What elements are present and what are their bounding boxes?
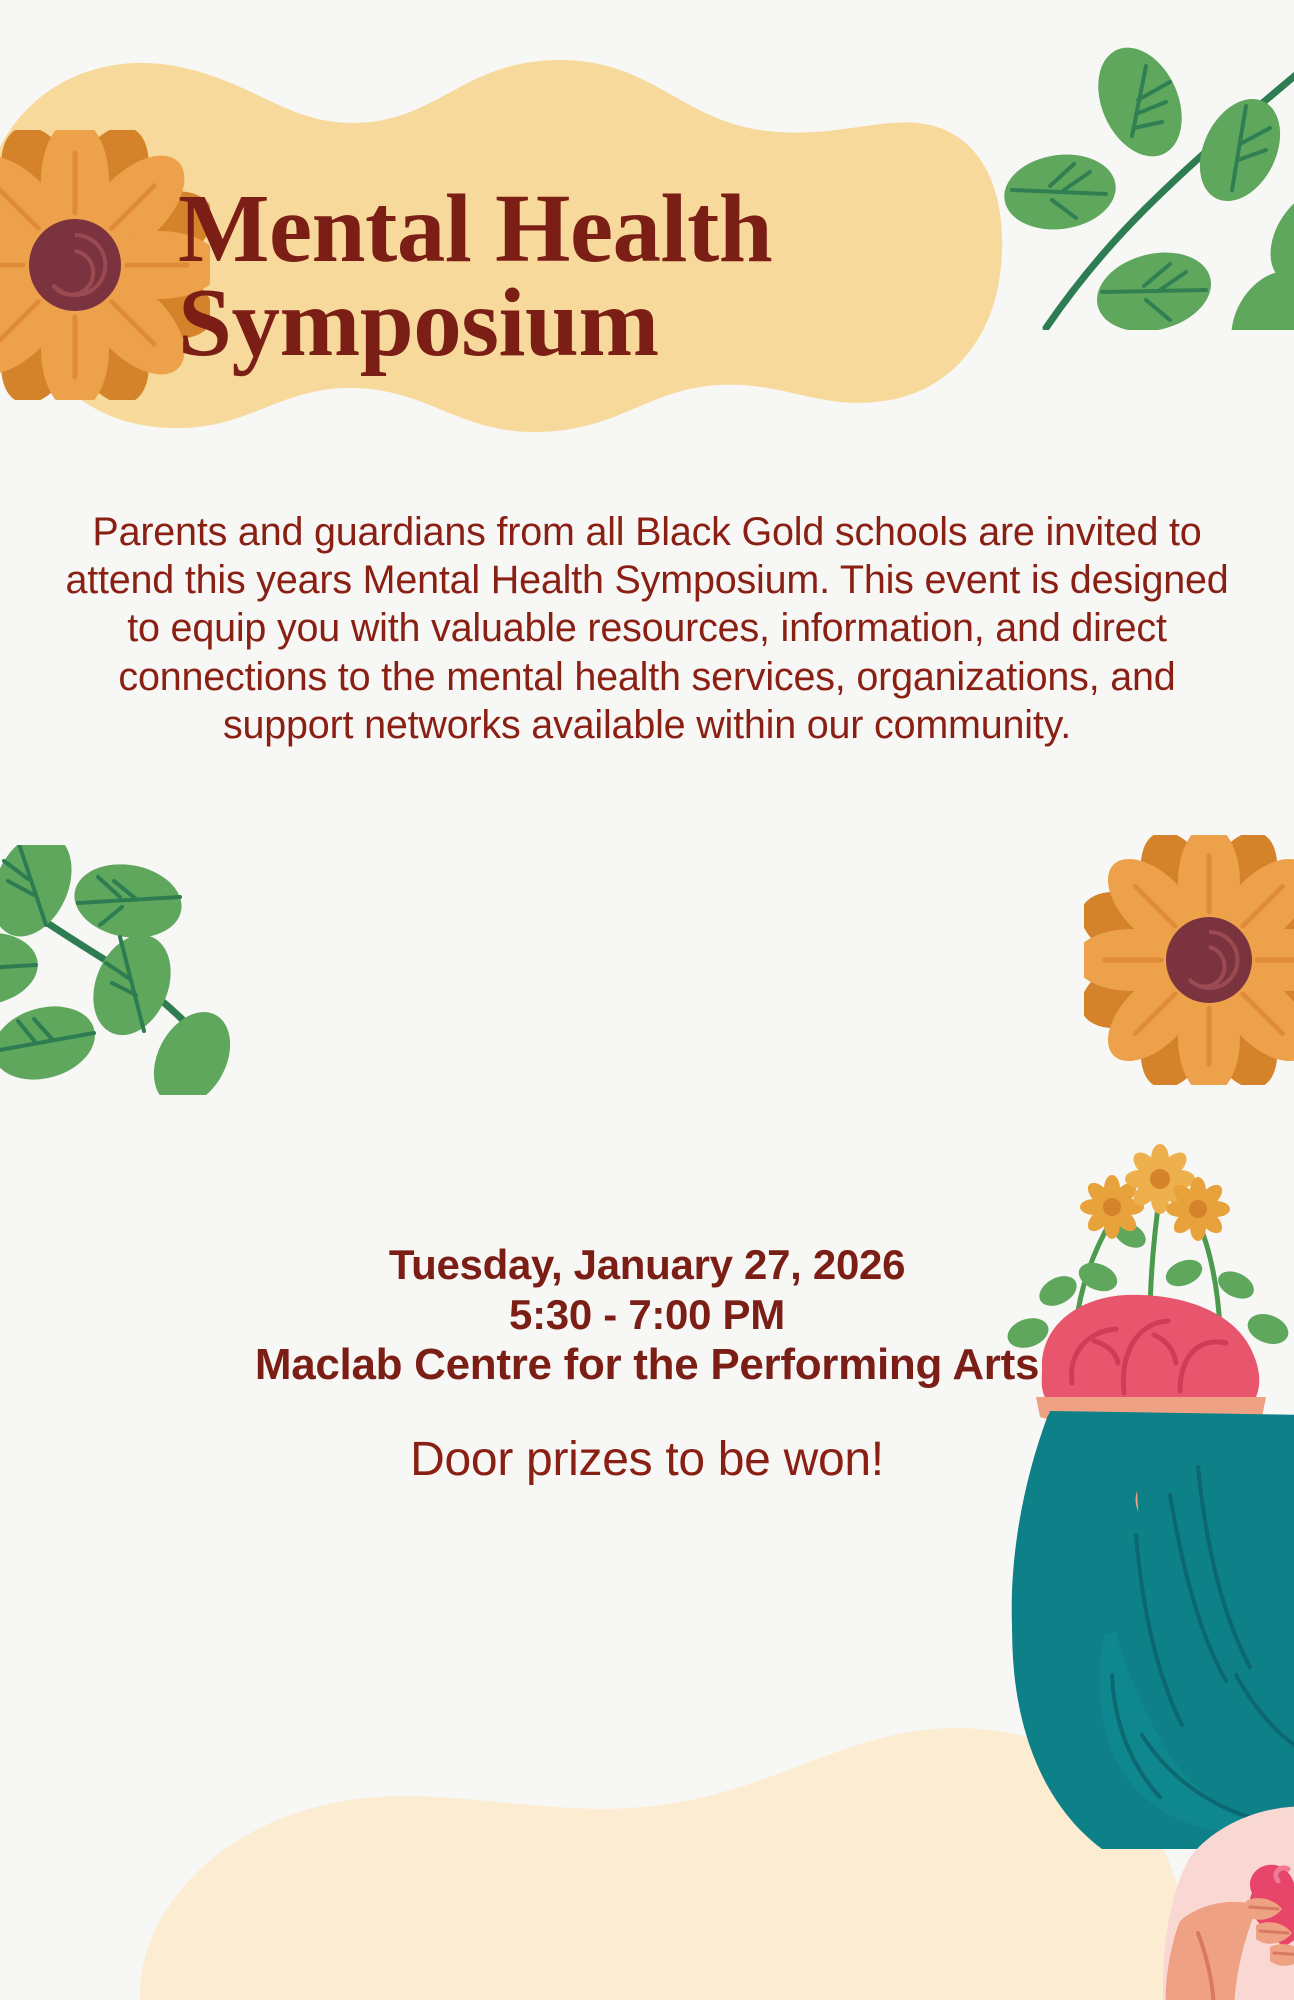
event-venue: Maclab Centre for the Performing Arts — [0, 1339, 1294, 1391]
event-date: Tuesday, January 27, 2026 — [0, 1240, 1294, 1290]
event-time: 5:30 - 7:00 PM — [0, 1290, 1294, 1340]
body-paragraph: Parents and guardians from all Black Gol… — [60, 508, 1234, 749]
title-line-2: Symposium — [150, 276, 1104, 370]
door-prizes-note: Door prizes to be won! — [0, 1432, 1294, 1487]
title-line-1: Mental Health — [150, 182, 1104, 276]
poster-text-content: Mental Health Symposium Parents and guar… — [0, 0, 1294, 2000]
page-title: Mental Health Symposium — [0, 182, 1294, 370]
poster-canvas: BLACK GOLD SCHOOL DIVISION Our Schools -… — [0, 0, 1294, 2000]
event-details: Tuesday, January 27, 2026 5:30 - 7:00 PM… — [0, 1240, 1294, 1391]
